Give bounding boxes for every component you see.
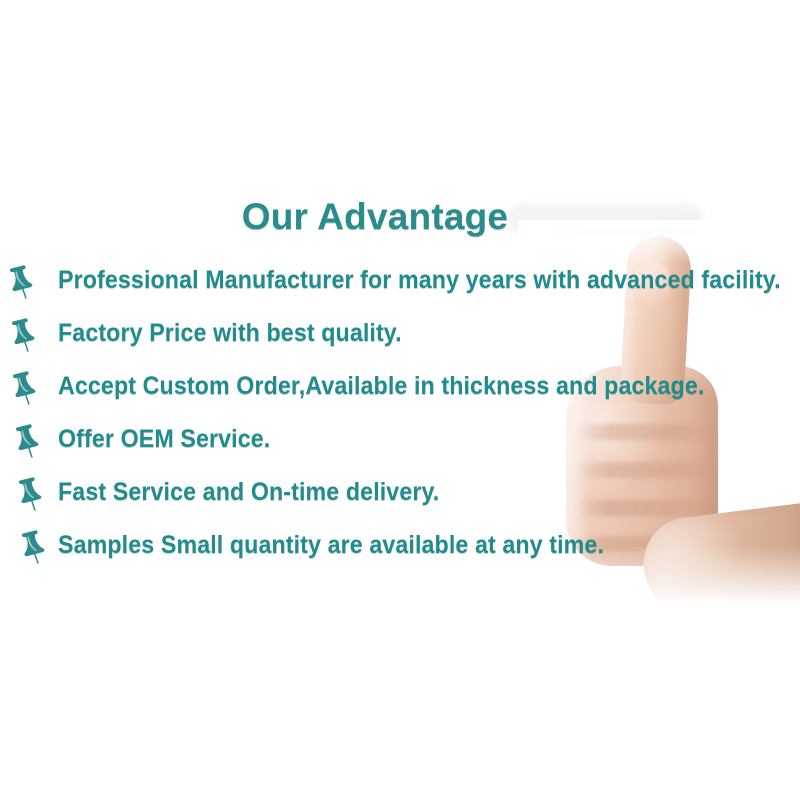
- pushpin-icon: [8, 317, 38, 353]
- advantage-item-1: Professional Manufacturer for many years…: [0, 262, 800, 315]
- advantage-text: Accept Custom Order,Available in thickne…: [58, 372, 704, 401]
- advantage-item-3: Accept Custom Order,Available in thickne…: [0, 368, 800, 421]
- pushpin-icon: [18, 529, 48, 565]
- advantage-banner: Our Advantage Professional Manufacturer …: [0, 0, 800, 800]
- advantage-item-2: Factory Price with best quality.: [0, 315, 800, 368]
- advantage-text: Professional Manufacturer for many years…: [58, 266, 781, 295]
- advantage-text: Factory Price with best quality.: [58, 319, 402, 348]
- pushpin-icon: [15, 476, 45, 512]
- advantage-item-5: Fast Service and On-time delivery.: [0, 474, 800, 527]
- advantage-text: Fast Service and On-time delivery.: [58, 478, 439, 507]
- advantage-text: Samples Small quantity are available at …: [58, 531, 604, 560]
- advantage-item-6: Samples Small quantity are available at …: [0, 527, 800, 580]
- advantage-item-4: Offer OEM Service.: [0, 421, 800, 474]
- advantage-text: Offer OEM Service.: [58, 425, 270, 454]
- pushpin-icon: [12, 423, 42, 459]
- page-title: Our Advantage: [0, 196, 750, 238]
- advantage-list: Professional Manufacturer for many years…: [0, 262, 800, 580]
- pushpin-icon: [9, 370, 39, 406]
- pushpin-icon: [6, 264, 36, 300]
